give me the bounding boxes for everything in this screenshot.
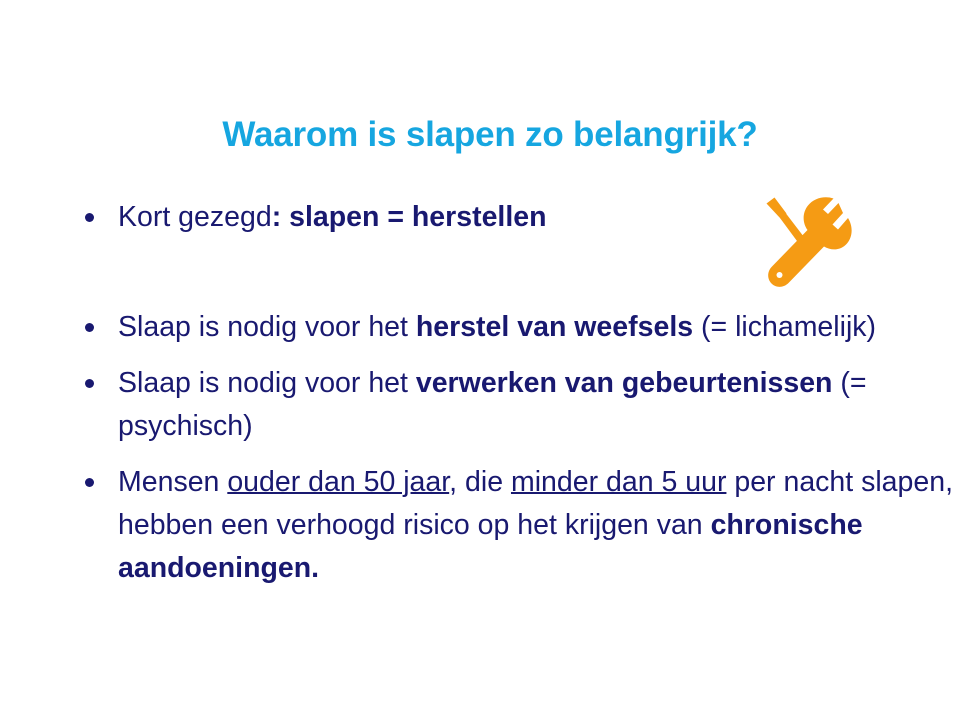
bullet-3-run-1: Slaap is nodig voor het (118, 367, 416, 399)
bullet-dot-icon (85, 478, 94, 487)
bullet-1-run-1: Kort gezegd (118, 201, 272, 233)
bullet-2-text: Slaap is nodig voor het herstel van weef… (118, 306, 958, 349)
bullet-2-run-1: Slaap is nodig voor het (118, 311, 416, 343)
bullet-list: Kort gezegd: slapen = herstellen Slaap i… (78, 196, 958, 590)
bullet-3-text: Slaap is nodig voor het verwerken van ge… (118, 362, 958, 448)
list-item: Slaap is nodig voor het herstel van weef… (78, 306, 958, 349)
bullet-4-run-3: , die (449, 466, 511, 498)
bullet-2-run-3: (= lichamelijk) (693, 311, 876, 343)
bullet-dot-icon (85, 379, 94, 388)
bullet-4-text: Mensen ouder dan 50 jaar, die minder dan… (118, 461, 958, 590)
bullet-4-run-4: minder dan 5 uur (511, 466, 726, 498)
spacer (78, 349, 958, 362)
bullet-dot-icon (85, 323, 94, 332)
spacer (78, 239, 958, 306)
bullet-1-run-2: : slapen = herstellen (272, 201, 547, 233)
list-item: Slaap is nodig voor het verwerken van ge… (78, 362, 958, 448)
bullet-2-run-2: herstel van weefsels (416, 311, 693, 343)
bullet-4-run-2: ouder dan 50 jaar (227, 466, 449, 498)
bullet-4-run-1: Mensen (118, 466, 227, 498)
page-title: Waarom is slapen zo belangrijk? (0, 115, 980, 155)
bullet-3-run-2: verwerken van gebeurtenissen (416, 367, 833, 399)
list-item: Mensen ouder dan 50 jaar, die minder dan… (78, 461, 958, 590)
slide-canvas: Waarom is slapen zo belangrijk? Kort gez… (0, 0, 980, 727)
bullet-1-text: Kort gezegd: slapen = herstellen (118, 196, 958, 239)
spacer (78, 448, 958, 461)
bullet-dot-icon (85, 213, 94, 222)
list-item: Kort gezegd: slapen = herstellen (78, 196, 958, 239)
